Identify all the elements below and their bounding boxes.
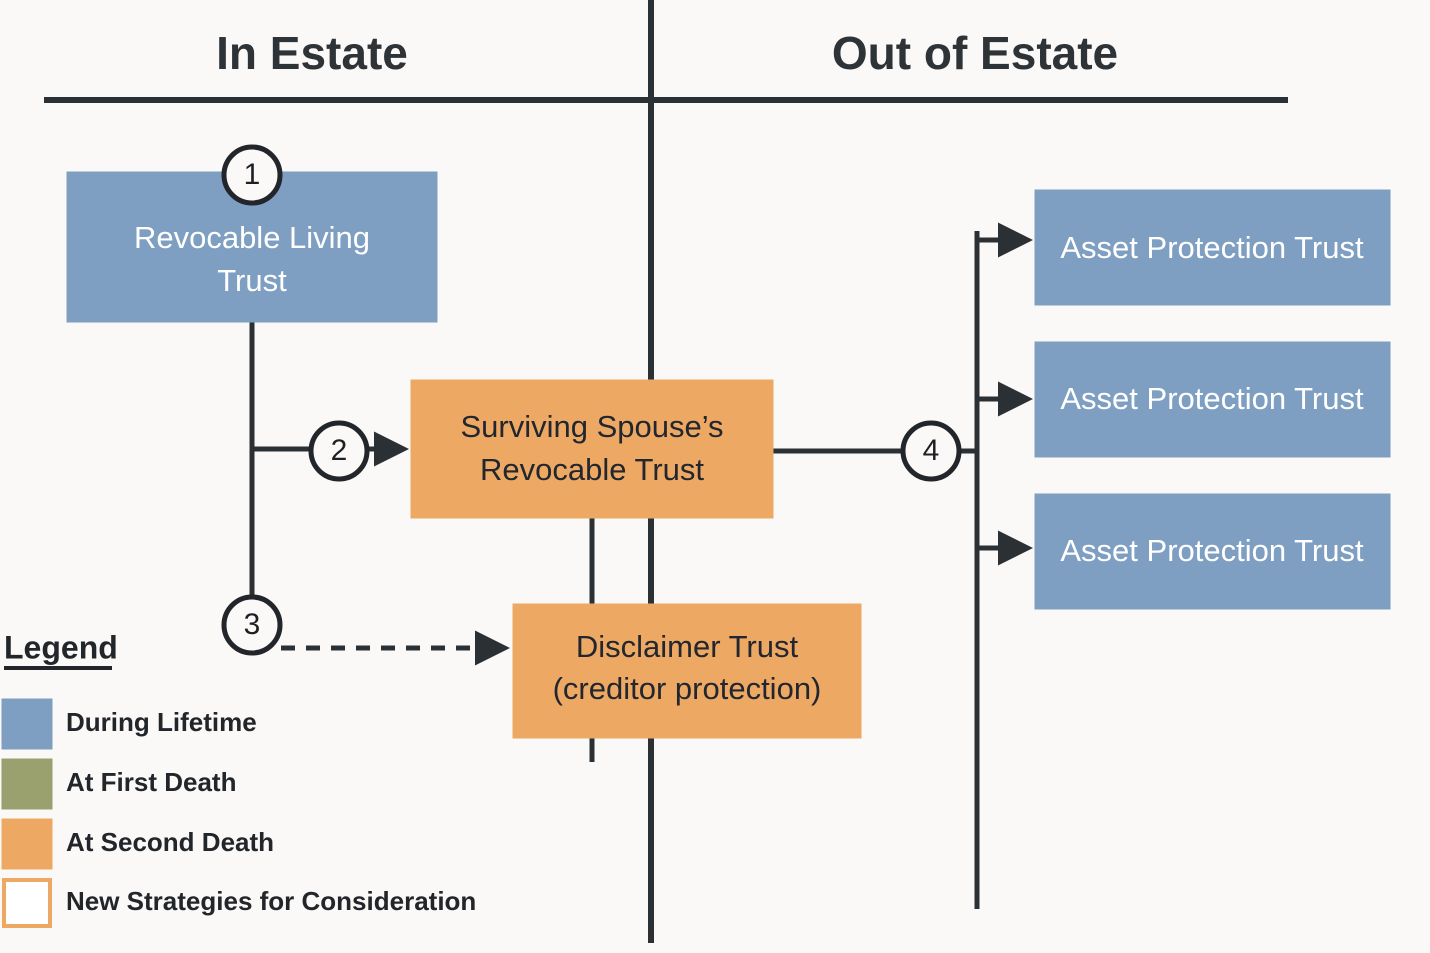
- marker-number: 1: [244, 158, 261, 191]
- marker-number: 3: [244, 608, 261, 641]
- marker-2[interactable]: 2: [311, 423, 367, 479]
- node-disclaimer-trust[interactable]: Disclaimer Trust (creditor protection): [513, 604, 861, 738]
- node-label-line1: Surviving Spouse’s: [460, 409, 723, 444]
- node-label-line1: Asset Protection Trust: [1060, 533, 1364, 568]
- legend-item-new-strategies: New Strategies for Consideration: [4, 880, 476, 926]
- column-header-in-estate: In Estate: [216, 27, 408, 79]
- marker-3[interactable]: 3: [224, 597, 280, 653]
- node-label-line2: Trust: [217, 263, 287, 298]
- legend-title: Legend: [4, 629, 118, 665]
- node-asset-protection-trust-2[interactable]: Asset Protection Trust: [1035, 342, 1390, 457]
- legend-item-during-lifetime: During Lifetime: [3, 700, 257, 748]
- node-label-line2: Revocable Trust: [480, 452, 704, 487]
- legend-swatch-at-second-death: [3, 820, 51, 868]
- node-surviving-spouse-revocable-trust[interactable]: Surviving Spouse’s Revocable Trust: [411, 380, 773, 518]
- legend-swatch-at-first-death: [3, 760, 51, 808]
- node-asset-protection-trust-1[interactable]: Asset Protection Trust: [1035, 190, 1390, 305]
- diagram-canvas: In Estate Out of Estate R: [0, 0, 1430, 953]
- node-label-line1: Asset Protection Trust: [1060, 230, 1364, 265]
- estate-planning-diagram: In Estate Out of Estate R: [0, 0, 1430, 953]
- legend-item-at-first-death: At First Death: [3, 760, 236, 808]
- legend-swatch-new-strategies: [4, 880, 50, 926]
- node-label-line1: Asset Protection Trust: [1060, 381, 1364, 416]
- node-asset-protection-trust-3[interactable]: Asset Protection Trust: [1035, 494, 1390, 609]
- marker-4[interactable]: 4: [903, 423, 959, 479]
- column-header-out-of-estate: Out of Estate: [832, 27, 1118, 79]
- legend: Legend During Lifetime At First Death At…: [3, 629, 476, 926]
- node-label-line1: Revocable Living: [134, 220, 370, 255]
- legend-swatch-during-lifetime: [3, 700, 51, 748]
- marker-1[interactable]: 1: [224, 147, 280, 203]
- node-label-line2: (creditor protection): [553, 671, 822, 706]
- legend-label-new-strategies: New Strategies for Consideration: [66, 886, 476, 916]
- marker-number: 2: [331, 434, 348, 467]
- legend-item-at-second-death: At Second Death: [3, 820, 274, 868]
- marker-number: 4: [923, 434, 940, 467]
- node-label-line1: Disclaimer Trust: [576, 629, 799, 664]
- legend-label-at-second-death: At Second Death: [66, 827, 274, 857]
- node-box: [411, 380, 773, 518]
- legend-label-at-first-death: At First Death: [66, 767, 236, 797]
- legend-label-during-lifetime: During Lifetime: [66, 707, 257, 737]
